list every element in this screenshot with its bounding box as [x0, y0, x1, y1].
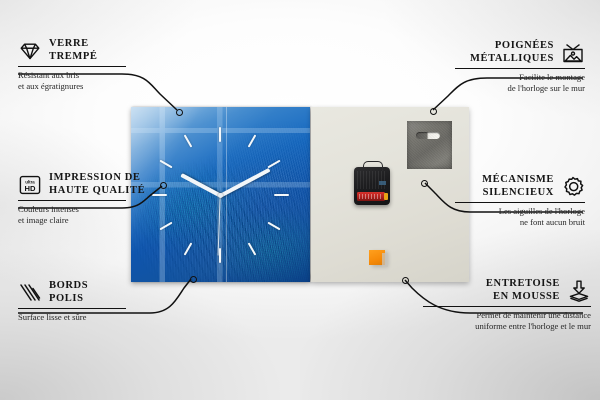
battery	[357, 192, 385, 201]
foam-spacer-icon	[567, 279, 591, 303]
callout-desc-line1: Résistant aux bris	[18, 70, 168, 81]
infographic-canvas: VERRE TREMPÉ Résistant aux bris et aux é…	[0, 0, 600, 400]
callout-desc-line2: et image claire	[18, 215, 188, 226]
hour-tick-3	[274, 194, 289, 196]
quartz-mechanism	[354, 167, 390, 205]
foam-spacer	[369, 250, 385, 265]
callout-desc-line2: et aux égratignures	[18, 81, 168, 92]
gear-icon	[561, 175, 585, 199]
clock-hub	[218, 193, 223, 198]
hour-tick-12	[219, 127, 221, 142]
callout-desc-line1: Les aiguilles de l'horloge	[395, 206, 585, 217]
callout-title-line2: MÉTALLIQUES	[470, 53, 554, 66]
diamond-icon	[18, 39, 42, 63]
callout-mecanisme-silencieux: MÉCANISME SILENCIEUX Les aiguilles de l'…	[395, 174, 585, 228]
mechanism-chip	[379, 181, 386, 185]
ultra-hd-icon: ultra HD	[18, 173, 42, 197]
callout-title-line2: HAUTE QUALITÉ	[49, 185, 145, 198]
callout-poignees-metalliques: POIGNÉES MÉTALLIQUES Facilite le montage…	[400, 40, 585, 94]
callout-title-line2: POLIS	[49, 293, 88, 306]
callout-rule	[18, 66, 126, 67]
hanger-keyhole-slot	[416, 132, 440, 139]
battery-label	[359, 194, 381, 199]
polished-edges-icon	[18, 281, 42, 305]
callout-title-line1: VERRE	[49, 38, 98, 51]
connector-dot-verre-trempe	[176, 109, 183, 116]
callout-rule	[455, 68, 585, 69]
callout-rule	[455, 202, 585, 203]
svg-text:HD: HD	[25, 184, 36, 193]
picture-hanger-icon	[561, 41, 585, 65]
hour-tick-6	[219, 248, 221, 263]
connector-dot-poignees	[430, 108, 437, 115]
callout-verre-trempe: VERRE TREMPÉ Résistant aux bris et aux é…	[18, 38, 168, 92]
callout-title-line1: POIGNÉES	[470, 40, 554, 53]
callout-desc-line1: Couleurs intenses	[18, 204, 188, 215]
callout-title-line2: EN MOUSSE	[486, 291, 560, 304]
callout-title-line2: TREMPÉ	[49, 51, 98, 64]
connector-dot-bords-polis	[190, 276, 197, 283]
mechanism-label	[357, 171, 387, 189]
callout-desc-line1: Facilite le montage	[400, 72, 585, 83]
callout-title-line1: MÉCANISME	[482, 174, 554, 187]
callout-impression-hd: ultra HD IMPRESSION DE HAUTE QUALITÉ Cou…	[18, 172, 188, 226]
callout-entretoise-mousse: ENTRETOISE EN MOUSSE Permet de maintenir…	[376, 278, 591, 332]
callout-desc-line2: uniforme entre l'horloge et le mur	[376, 321, 591, 332]
callout-rule	[423, 306, 591, 307]
callout-title-line1: BORDS	[49, 280, 88, 293]
metal-hanger-plate	[407, 121, 452, 169]
callout-desc-line2: de l'horloge sur le mur	[400, 83, 585, 94]
callout-title-line2: SILENCIEUX	[482, 187, 554, 200]
callout-desc-line1: Permet de maintenir une distance	[376, 310, 591, 321]
callout-title-line1: IMPRESSION DE	[49, 172, 145, 185]
callout-bords-polis: BORDS POLIS Surface lisse et sûre	[18, 280, 168, 323]
callout-rule	[18, 308, 126, 309]
callout-desc-line2: ne font aucun bruit	[395, 217, 585, 228]
callout-desc-line1: Surface lisse et sûre	[18, 312, 168, 323]
callout-rule	[18, 200, 126, 201]
callout-title-line1: ENTRETOISE	[486, 278, 560, 291]
